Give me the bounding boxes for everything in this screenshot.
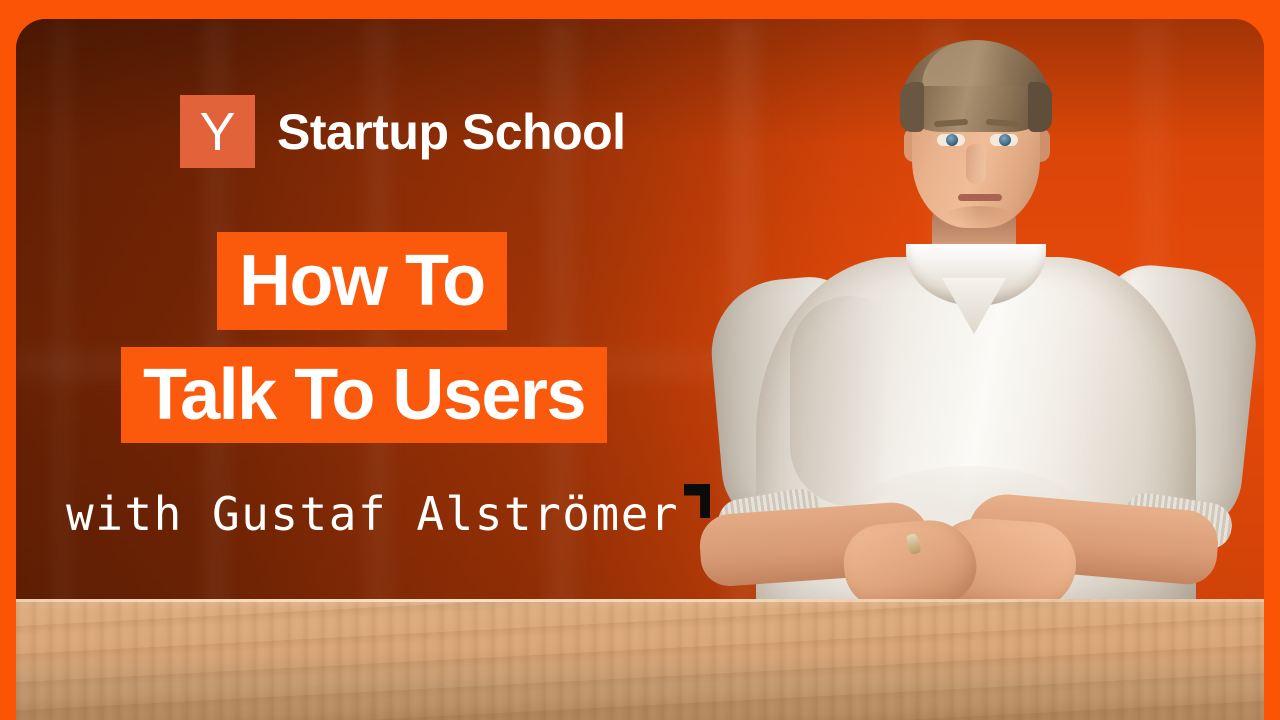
presenter-photo bbox=[694, 19, 1254, 616]
yc-logo-icon: Y bbox=[180, 95, 255, 168]
hair-temple-left bbox=[900, 82, 924, 132]
quote-corner-bracket-icon bbox=[684, 484, 710, 518]
video-thumbnail: Y Startup School How To Talk To Users wi… bbox=[0, 0, 1280, 720]
title-line-2: Talk To Users bbox=[121, 347, 607, 443]
nose bbox=[966, 144, 986, 184]
presenter-subtitle: with Gustaf Alströmer bbox=[66, 486, 679, 542]
brand-lockup: Y Startup School bbox=[180, 95, 626, 168]
hair-temple-right bbox=[1028, 82, 1052, 132]
brand-name: Startup School bbox=[277, 103, 626, 161]
iris-right bbox=[999, 134, 1011, 146]
title-line-1: How To bbox=[217, 232, 507, 330]
sweatshirt-fold-side bbox=[790, 296, 910, 506]
wooden-table bbox=[16, 599, 1264, 720]
iris-left bbox=[946, 134, 958, 146]
table-edge-highlight bbox=[16, 599, 1264, 602]
chin-shadow bbox=[944, 206, 1014, 228]
hand-near bbox=[841, 516, 980, 611]
video-card: Y Startup School How To Talk To Users wi… bbox=[16, 19, 1264, 720]
mouth bbox=[958, 194, 1002, 201]
